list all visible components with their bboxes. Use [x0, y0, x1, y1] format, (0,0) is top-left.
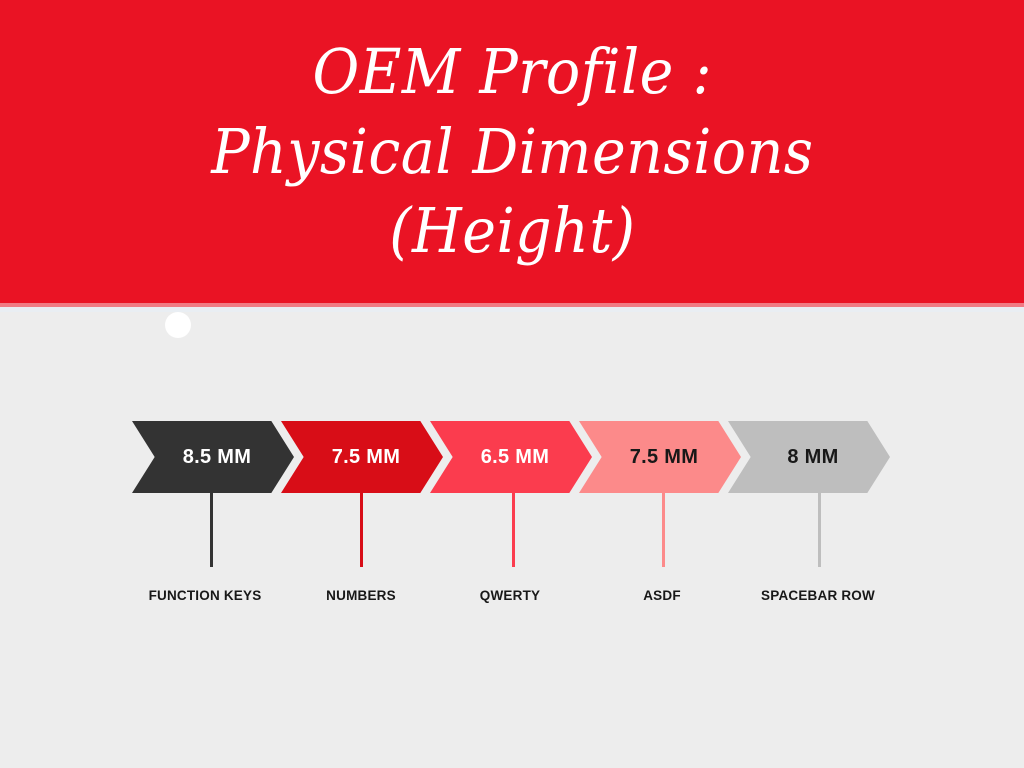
step-label-numbers: NUMBERS: [326, 588, 396, 603]
step-label-qwerty: QWERTY: [480, 588, 540, 603]
chevron-step-4[interactable]: 7.5 MM: [579, 421, 741, 493]
chevron-step-3[interactable]: 6.5 MM: [430, 421, 592, 493]
chevron-step-3-value: 6.5 MM: [481, 446, 549, 469]
title-line-2: Physical Dimensions: [211, 112, 813, 191]
chevron-step-2-value: 7.5 MM: [332, 446, 400, 469]
chevron-step-1-value: 8.5 MM: [183, 446, 251, 469]
decorative-dot: [165, 312, 191, 338]
chevron-chart: 8.5 MM 7.5 MM 6.5 MM 7.5 MM 8 MM: [132, 421, 892, 493]
connector-line-2: [360, 493, 363, 567]
header-banner: OEM Profile : Physical Dimensions (Heigh…: [0, 0, 1024, 303]
connector-line-4: [662, 493, 665, 567]
chevron-step-1[interactable]: 8.5 MM: [132, 421, 294, 493]
chevron-step-5[interactable]: 8 MM: [728, 421, 890, 493]
title-line-3: (Height): [211, 191, 813, 270]
page-title: OEM Profile : Physical Dimensions (Heigh…: [174, 32, 850, 270]
connector-line-5: [818, 493, 821, 567]
banner-underline-secondary: [0, 307, 1024, 312]
title-line-1: OEM Profile :: [211, 32, 813, 111]
connector-line-1: [210, 493, 213, 567]
step-label-asdf: ASDF: [643, 588, 681, 603]
step-label-function-keys: FUNCTION KEYS: [149, 588, 262, 603]
chevron-step-4-value: 7.5 MM: [630, 446, 698, 469]
connector-line-3: [512, 493, 515, 567]
chevron-step-2[interactable]: 7.5 MM: [281, 421, 443, 493]
step-label-spacebar-row: SPACEBAR ROW: [761, 588, 875, 603]
chevron-step-5-value: 8 MM: [787, 446, 838, 469]
